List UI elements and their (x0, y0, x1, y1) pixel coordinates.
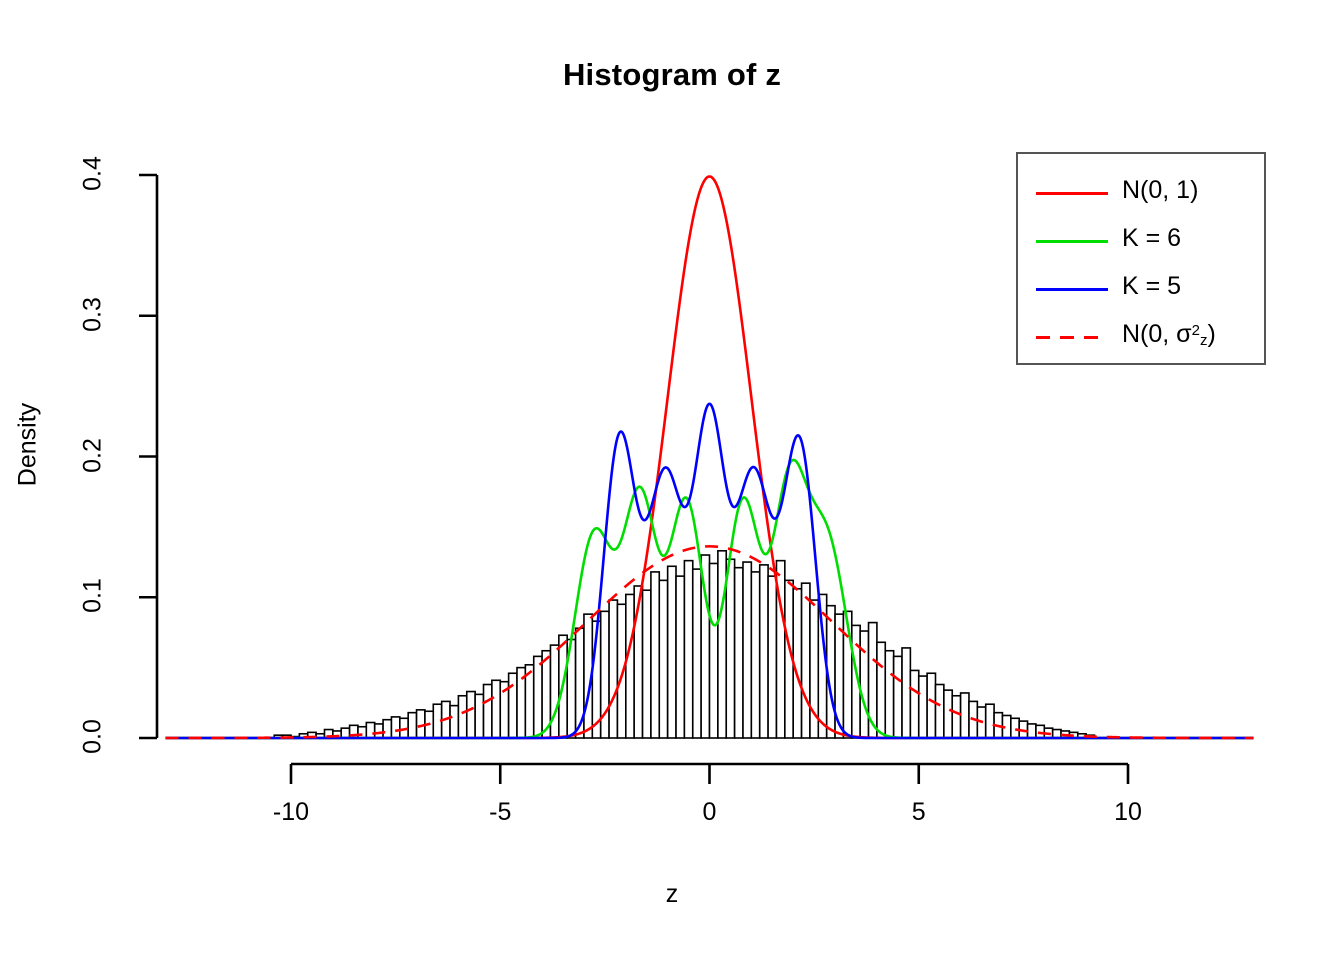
histogram-bar (935, 685, 943, 738)
histogram-bar (986, 704, 994, 738)
histogram-bar (509, 673, 517, 738)
histogram-bar (492, 680, 500, 738)
x-axis-label: z (0, 880, 1344, 909)
histogram-bar (676, 576, 684, 738)
x-tick-label: -5 (455, 798, 545, 827)
histogram-bar (1028, 724, 1036, 738)
histogram-bar (860, 631, 868, 738)
histogram-bar (877, 642, 885, 738)
histogram-bar (341, 728, 349, 738)
histogram-bar (910, 670, 918, 738)
histogram-bar (668, 566, 676, 738)
histogram-bar (550, 645, 558, 738)
histogram-bar (467, 692, 475, 738)
histogram-bar (450, 706, 458, 738)
histogram-bar (952, 696, 960, 738)
x-tick-label: -10 (246, 798, 336, 827)
histogram-bar (902, 648, 910, 738)
histogram-bar (894, 656, 902, 738)
y-tick-label: 0.4 (79, 129, 108, 219)
histogram-bar (484, 685, 492, 738)
legend-item-label: K = 5 (1122, 272, 1181, 301)
histogram-bar (534, 656, 542, 738)
histogram-bar (458, 696, 466, 738)
histogram-bar (944, 690, 952, 738)
histogram-bars (274, 551, 1094, 738)
histogram-bar (710, 563, 718, 738)
y-tick-label: 0.0 (79, 692, 108, 782)
histogram-bar (375, 724, 383, 738)
histogram-plot: Histogram of z Density z -10-50510 0.00.… (0, 0, 1344, 960)
x-tick-label: 5 (874, 798, 964, 827)
histogram-bar (366, 723, 374, 738)
histogram-bar (919, 676, 927, 738)
legend-item[interactable]: K = 5 (1018, 264, 1268, 316)
histogram-bar (651, 572, 659, 738)
histogram-bar (927, 673, 935, 738)
histogram-bar (643, 590, 651, 738)
histogram-bar (693, 569, 701, 738)
legend-item-label: N(0, σ2z) (1122, 320, 1216, 349)
legend-line-swatch (1036, 240, 1108, 243)
histogram-bar (885, 651, 893, 738)
y-tick-label: 0.2 (79, 410, 108, 500)
legend-item-label: K = 6 (1122, 224, 1181, 253)
histogram-bar (391, 717, 399, 738)
legend-line-swatch (1036, 336, 1108, 339)
legend-line-swatch (1036, 192, 1108, 195)
histogram-bar (408, 713, 416, 738)
y-tick-label: 0.3 (79, 269, 108, 359)
legend-line-swatch (1036, 288, 1108, 291)
legend-item[interactable]: K = 6 (1018, 216, 1268, 268)
histogram-bar (609, 600, 617, 738)
legend-item[interactable]: N(0, σ2z) (1018, 312, 1268, 364)
histogram-bar (961, 693, 969, 738)
histogram-bar (383, 720, 391, 738)
x-tick-label: 10 (1083, 798, 1173, 827)
y-axis-label: Density (14, 365, 43, 525)
legend-item-label: N(0, 1) (1122, 176, 1198, 205)
histogram-bar (802, 583, 810, 738)
histogram-bar (1011, 718, 1019, 738)
y-tick-label: 0.1 (79, 551, 108, 641)
legend-item[interactable]: N(0, 1) (1018, 168, 1268, 220)
histogram-bar (743, 562, 751, 738)
histogram-bar (768, 576, 776, 738)
histogram-bar (760, 565, 768, 738)
histogram-bar (358, 727, 366, 738)
histogram-bar (617, 604, 625, 738)
histogram-bar (751, 572, 759, 738)
histogram-bar (684, 561, 692, 738)
histogram-bar (659, 580, 667, 738)
histogram-bar (735, 568, 743, 738)
legend: N(0, 1)K = 6K = 5N(0, σ2z) (1016, 152, 1266, 365)
histogram-bar (417, 710, 425, 738)
x-tick-label: 0 (665, 798, 755, 827)
histogram-bar (626, 594, 634, 738)
histogram-bar (718, 551, 726, 738)
histogram-bar (475, 694, 483, 738)
histogram-bar (726, 559, 734, 738)
